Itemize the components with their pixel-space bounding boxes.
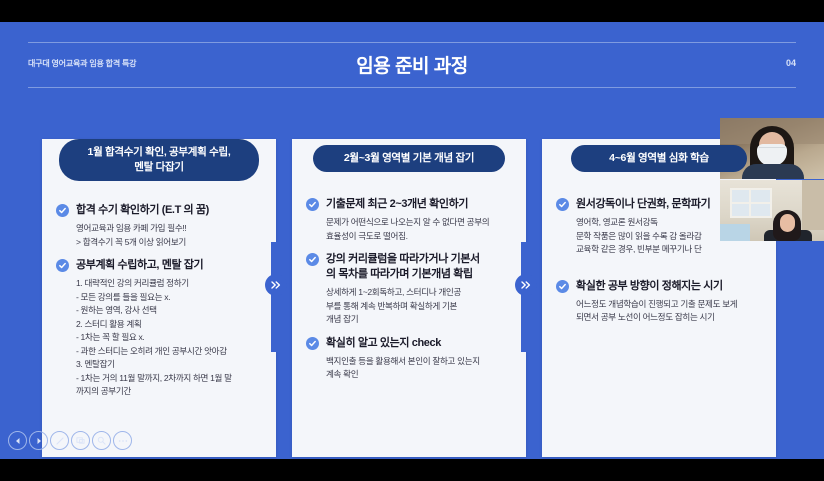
next-slide-button[interactable] (29, 431, 48, 450)
list-item-detail: 상세하게 1~2회독하고, 스터디나 개인공 부를 통해 계속 반복하며 확실하… (326, 286, 512, 327)
check-circle-icon (56, 259, 69, 272)
connector-1-2 (265, 122, 287, 459)
detail-line: - 1차는 거의 11월 말까지, 2차까지 하면 1월 말 (76, 372, 262, 386)
list-item-heading: 강의 커리큘럼을 따라가거나 기본서 (326, 252, 512, 267)
stage-card-1-body: 합격 수기 확인하기 (E.T 의 꿈) 영어교육과 임용 카페 가입 필수!!… (42, 203, 276, 447)
stage-card-1-title-line1: 1월 합격수기 확인, 공부계획 수립, (73, 145, 245, 160)
stage-card-1: 1월 합격수기 확인, 공부계획 수립, 멘탈 다잡기 합격 수기 확인하기 (… (42, 139, 276, 457)
person-face-shape (780, 214, 795, 232)
check-circle-icon (306, 253, 319, 266)
letterbox-bottom (0, 459, 824, 481)
list-item-detail: 문제가 어떤식으로 나오는지 알 수 없다면 공부의 효율성이 극도로 떨어짐. (326, 216, 512, 243)
more-options-button[interactable] (113, 431, 132, 450)
detail-line: - 모든 강의를 들을 필요는 x. (76, 291, 262, 305)
cards-container: 1월 합격수기 확인, 공부계획 수립, 멘탈 다잡기 합격 수기 확인하기 (… (0, 122, 824, 459)
stage-card-1-title: 1월 합격수기 확인, 공부계획 수립, 멘탈 다잡기 (59, 139, 259, 181)
screen-layout-button[interactable] (71, 431, 90, 450)
stage-card-2-title: 2월~3월 영역별 기본 개념 잡기 (313, 145, 505, 172)
list-item: 공부계획 수립하고, 멘탈 잡기 1. 대략적인 강의 커리큘럼 정하기 - 모… (56, 258, 262, 399)
detail-line: 2. 스터디 활용 계획 (76, 318, 262, 332)
presentation-viewer: 대구대 영어교육과 임용 합격 특강 임용 준비 과정 04 1월 합격수기 확… (0, 0, 824, 481)
detail-line: 효율성이 극도로 떨어짐. (326, 230, 512, 244)
room-window-shape (730, 188, 772, 218)
connector-bar (271, 242, 281, 352)
double-chevron-right-icon (265, 274, 287, 296)
stage-card-2-body: 기출문제 최근 2~3개년 확인하기 문제가 어떤식으로 나오는지 알 수 없다… (292, 197, 526, 447)
detail-line: 까지의 공부기간 (76, 385, 262, 399)
detail-line: 영어교육과 임용 카페 가입 필수!! (76, 222, 262, 236)
slide-page-number: 04 (786, 58, 796, 68)
check-circle-icon (306, 198, 319, 211)
video-tile-participant[interactable] (720, 180, 824, 241)
stage-card-3-title-line1: 4~6월 영역별 심화 학습 (585, 151, 733, 166)
list-item-heading: 기출문제 최근 2~3개년 확인하기 (326, 197, 512, 212)
stage-card-3-title: 4~6월 영역별 심화 학습 (571, 145, 747, 172)
check-circle-icon (56, 204, 69, 217)
person-torso-shape (742, 164, 804, 179)
list-item-detail: 1. 대략적인 강의 커리큘럼 정하기 - 모든 강의를 들을 필요는 x. -… (76, 277, 262, 399)
detail-line: 백지인출 등을 활용해서 본인이 잘하고 있는지 (326, 355, 512, 369)
stage-card-1-title-line2: 멘탈 다잡기 (73, 160, 245, 175)
player-toolbar (0, 431, 824, 451)
list-item-heading-continued: 의 목차를 따라가며 기본개념 확립 (326, 267, 512, 282)
detail-line: 3. 멘탈잡기 (76, 358, 262, 372)
detail-line: 개념 잡기 (326, 313, 512, 327)
list-item: 합격 수기 확인하기 (E.T 의 꿈) 영어교육과 임용 카페 가입 필수!!… (56, 203, 262, 249)
detail-line: 교육학 같은 경우, 빈부분 메꾸기나 단 (576, 243, 762, 257)
pen-tool-button[interactable] (50, 431, 69, 450)
detail-line: 상세하게 1~2회독하고, 스터디나 개인공 (326, 286, 512, 300)
list-item-detail: 영어교육과 임용 카페 가입 필수!! > 합격수기 꼭 5개 이상 읽어보기 (76, 222, 262, 249)
stage-card-2: 2월~3월 영역별 기본 개념 잡기 기출문제 최근 2~3개년 확인하기 문제… (292, 139, 526, 457)
detail-line: 문제가 어떤식으로 나오는지 알 수 없다면 공부의 (326, 216, 512, 230)
list-item: 기출문제 최근 2~3개년 확인하기 문제가 어떤식으로 나오는지 알 수 없다… (306, 197, 512, 243)
detail-line: - 과한 스터디는 오히려 개인 공부시간 앗아감 (76, 345, 262, 359)
detail-line: 1. 대략적인 강의 커리큘럼 정하기 (76, 277, 262, 291)
list-item-heading: 확실히 알고 있는지 check (326, 336, 512, 351)
page-title: 임용 준비 과정 (28, 51, 796, 78)
room-door-shape (802, 180, 824, 230)
check-circle-icon (556, 280, 569, 293)
detail-line: > 합격수기 꼭 5개 이상 읽어보기 (76, 236, 262, 250)
check-circle-icon (556, 198, 569, 211)
stage-card-2-title-line1: 2월~3월 영역별 기본 개념 잡기 (327, 151, 491, 166)
previous-slide-button[interactable] (8, 431, 27, 450)
slide-header: 대구대 영어교육과 임용 합격 특강 임용 준비 과정 04 (28, 42, 796, 88)
connector-bar (521, 242, 531, 352)
detail-line: 어느정도 개념학습이 진행되고 기출 문제도 보게 (576, 298, 762, 312)
list-item-heading: 확실한 공부 방향이 정해지는 시기 (576, 279, 762, 294)
detail-line: 부를 통해 계속 반복하며 확실하게 기본 (326, 300, 512, 314)
list-item-heading: 공부계획 수립하고, 멘탈 잡기 (76, 258, 262, 273)
list-item-detail: 백지인출 등을 활용해서 본인이 잘하고 있는지 계속 확인 (326, 355, 512, 382)
detail-line: - 1차는 꼭 할 필요 x. (76, 331, 262, 345)
detail-line: - 원하는 영역, 강사 선택 (76, 304, 262, 318)
list-item: 확실한 공부 방향이 정해지는 시기 어느정도 개념학습이 진행되고 기출 문제… (556, 279, 762, 325)
list-item: 확실히 알고 있는지 check 백지인출 등을 활용해서 본인이 잘하고 있는… (306, 336, 512, 382)
zoom-button[interactable] (92, 431, 111, 450)
list-item: 강의 커리큘럼을 따라가거나 기본서 의 목차를 따라가며 기본개념 확립 상세… (306, 252, 512, 327)
list-item-heading: 합격 수기 확인하기 (E.T 의 꿈) (76, 203, 262, 218)
detail-line: 되면서 공부 노선이 어느정도 잡히는 시기 (576, 311, 762, 325)
connector-2-3 (515, 122, 537, 459)
check-circle-icon (306, 337, 319, 350)
room-furniture-shape (720, 224, 750, 241)
double-chevron-right-icon (515, 274, 537, 296)
slide-canvas: 대구대 영어교육과 임용 합격 특강 임용 준비 과정 04 1월 합격수기 확… (0, 22, 824, 459)
list-item-detail: 어느정도 개념학습이 진행되고 기출 문제도 보게 되면서 공부 노선이 어느정… (576, 298, 762, 325)
detail-line: 계속 확인 (326, 368, 512, 382)
letterbox-top (0, 0, 824, 22)
